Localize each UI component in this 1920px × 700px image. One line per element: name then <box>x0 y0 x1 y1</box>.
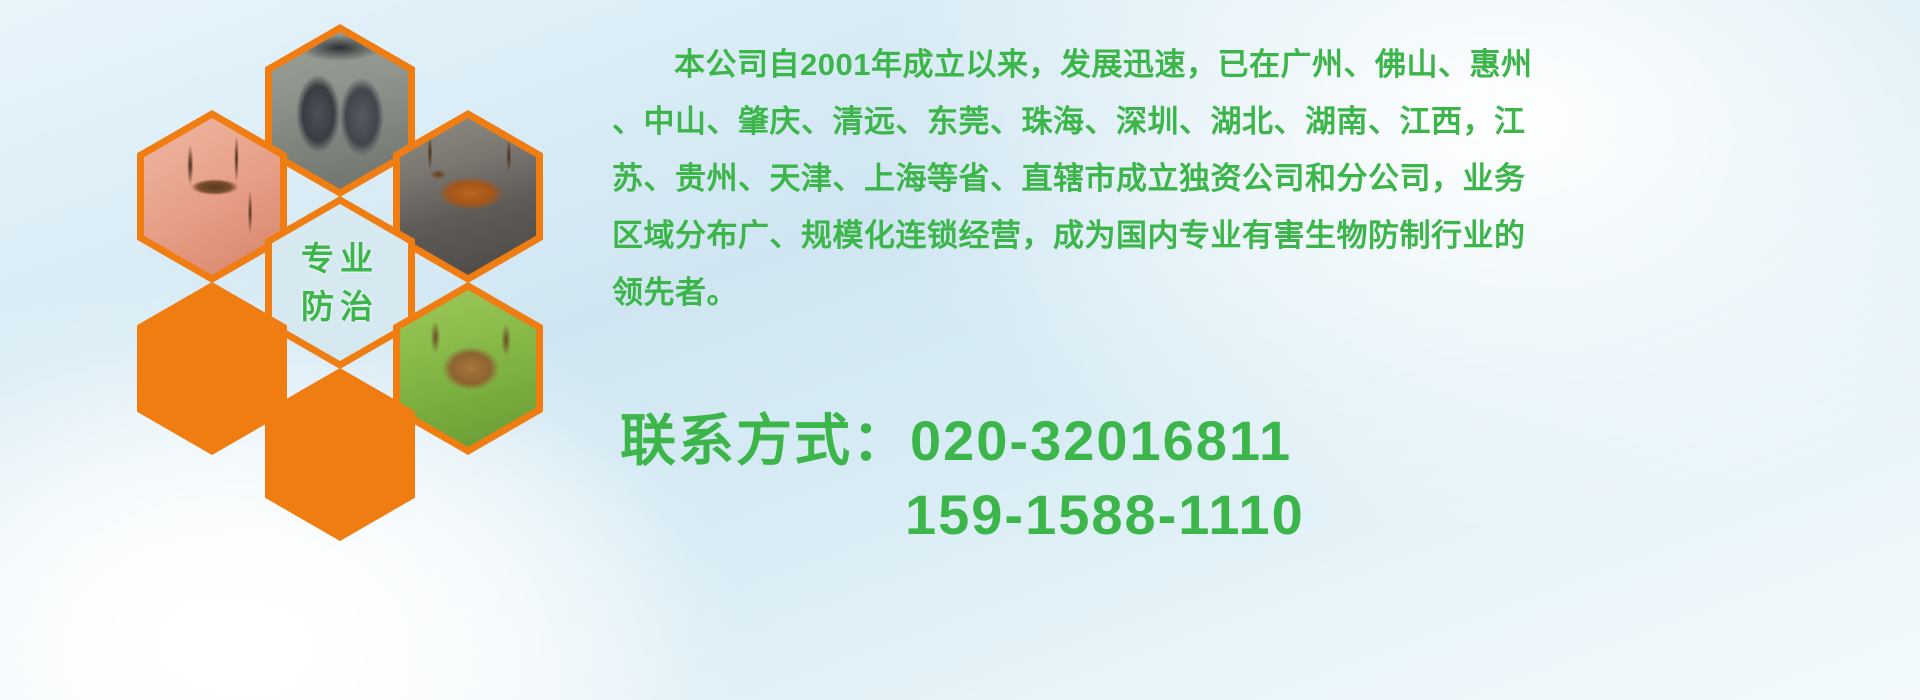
hex-photo-rats <box>265 24 415 197</box>
hex-photo-cockroach-image <box>400 118 536 275</box>
hex-photo-stink-bug-image <box>400 290 536 447</box>
hex-photo-mosquito-image <box>144 118 280 275</box>
hex-photo-rats-image <box>272 32 408 189</box>
hex-photo-ant <box>265 368 415 541</box>
logo-text-line1: 专业 <box>301 235 379 283</box>
contact-label: 联系方式： <box>620 409 910 472</box>
intro-line-4: 区域分布广、规模化连锁经营，成为国内专业有害生物防制行业的 <box>612 207 1912 264</box>
contact-block: 联系方式：020-32016811 159-1588-1110 <box>620 404 1910 552</box>
intro-line-5: 领先者。 <box>612 264 1912 321</box>
intro-line-2: 、中山、肇庆、清远、东莞、珠海、深圳、湖北、湖南、江西，江 <box>612 93 1912 150</box>
logo-text: 专业 防治 <box>272 204 408 361</box>
promotional-banner: 专业 防治 本公司自2001年成立以来，发展迅速，已在广州、佛山、惠州 、中山、… <box>0 0 1920 700</box>
hex-photo-mosquito <box>137 110 287 283</box>
intro-line-3: 苏、贵州、天津、上海等省、直辖市成立独资公司和分公司，业务 <box>612 150 1912 207</box>
hex-photo-stink-bug <box>393 282 543 455</box>
hex-photo-flies <box>137 282 287 455</box>
hex-logo-center: 专业 防治 <box>265 196 415 369</box>
hexagon-photo-cluster: 专业 防治 <box>95 10 585 570</box>
contact-phone-secondary[interactable]: 159-1588-1110 <box>620 478 1910 552</box>
contact-phone-primary[interactable]: 020-32016811 <box>910 409 1292 472</box>
intro-line-1: 本公司自2001年成立以来，发展迅速，已在广州、佛山、惠州 <box>612 36 1912 93</box>
hex-logo-center-inner: 专业 防治 <box>272 204 408 361</box>
logo-text-line2: 防治 <box>301 283 379 331</box>
company-intro-paragraph: 本公司自2001年成立以来，发展迅速，已在广州、佛山、惠州 、中山、肇庆、清远、… <box>612 36 1912 321</box>
hex-photo-ant-image <box>272 376 408 533</box>
contact-primary-line: 联系方式：020-32016811 <box>620 404 1910 478</box>
hex-photo-flies-image <box>144 290 280 447</box>
hex-photo-cockroach <box>393 110 543 283</box>
